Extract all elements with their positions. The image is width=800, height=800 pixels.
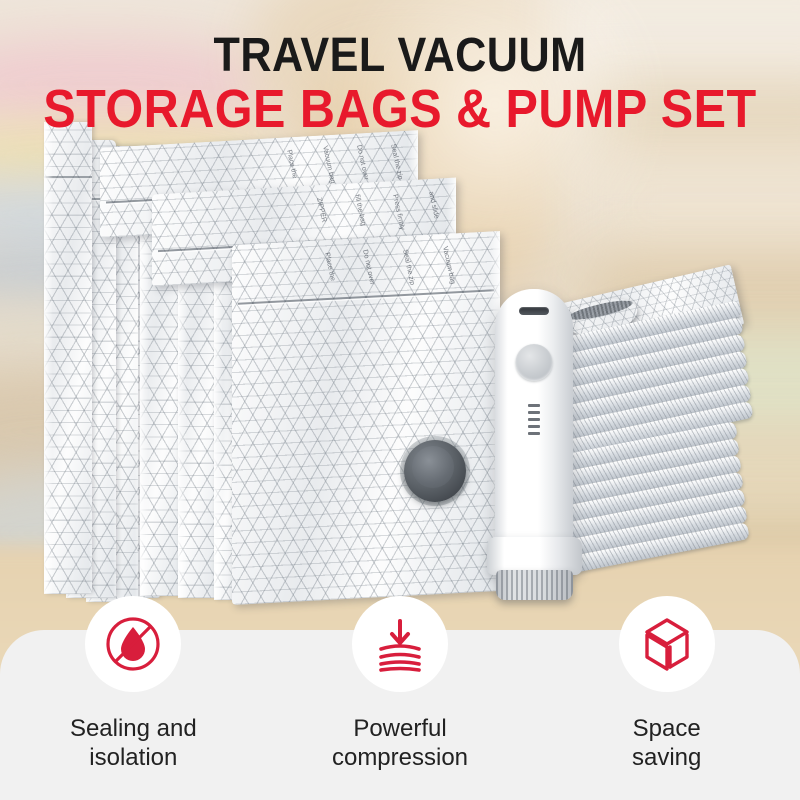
standing-bag: [44, 122, 92, 594]
bag-printed-text: Seal the zip: [401, 249, 415, 286]
product-marketing-image: TRAVEL VACUUM STORAGE BAGS & PUMP SET: [0, 0, 800, 800]
usb-c-port-icon: [519, 307, 549, 315]
folded-bag-stack-lower: [560, 438, 760, 578]
cube-box-icon: [636, 613, 698, 675]
feature-icon-badge: [352, 596, 448, 692]
pump-nozzle-ring: [496, 570, 573, 600]
feature-label: Powerful compression: [267, 714, 534, 773]
compression-arrow-icon: [369, 613, 431, 675]
bag-printed-text: and slide: [427, 191, 440, 220]
feature-list: Sealing and isolation Powerful compressi…: [0, 630, 800, 800]
battery-indicator-icon: [528, 404, 540, 439]
feature-icon-badge: [619, 596, 715, 692]
headline-line-2: STORAGE BAGS & PUMP SET: [40, 85, 760, 135]
feature-label: Space saving: [533, 714, 800, 773]
bag-printed-text: Press firmly: [391, 194, 405, 231]
bag-printed-text: Do not over: [361, 249, 375, 286]
no-water-drop-icon: [102, 613, 164, 675]
bag-printed-text: Do not over: [355, 144, 369, 181]
bag-printed-text: Vacuum bag: [441, 246, 456, 285]
air-valve-cap: [404, 440, 466, 502]
power-button[interactable]: [516, 344, 553, 381]
headline: TRAVEL VACUUM STORAGE BAGS & PUMP SET: [0, 34, 800, 135]
headline-line-1: TRAVEL VACUUM: [40, 34, 760, 78]
bag-printed-text: Vacuum bag: [321, 145, 336, 184]
pump-body: [495, 289, 573, 544]
feature-item-compression: Powerful compression: [267, 630, 534, 800]
bag-printed-text: ZIPPER: [315, 197, 327, 223]
feature-label: Sealing and isolation: [0, 714, 267, 773]
feature-item-space: Space saving: [533, 630, 800, 800]
feature-item-sealing: Sealing and isolation: [0, 630, 267, 800]
bag-printed-text: Seal the zip: [389, 143, 403, 180]
bag-printed-text: fill the bag: [353, 194, 366, 227]
bag-printed-text: Place the: [285, 149, 298, 179]
feature-icon-badge: [85, 596, 181, 692]
bag-printed-text: Place the: [323, 252, 336, 282]
vacuum-pump: [487, 289, 582, 599]
front-bag-panel: Place the Do not over Seal the zip Vacuu…: [232, 231, 500, 605]
